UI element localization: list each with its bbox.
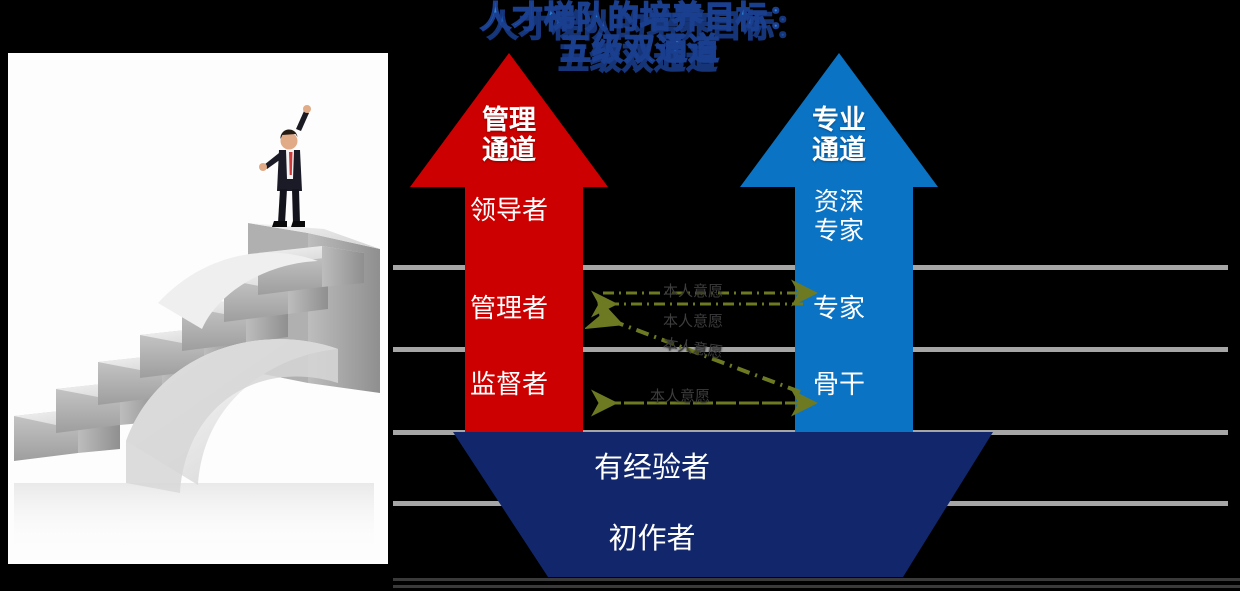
management-channel-label-line2: 通道 <box>439 135 579 165</box>
management-channel-label-line1: 管理 <box>439 105 579 135</box>
professional-channel-label-line2: 通道 <box>769 135 909 165</box>
management-tier-2: 管理者 <box>439 294 579 324</box>
professional-tier-1-line2: 专家 <box>769 217 909 246</box>
staircase-illustration <box>8 53 388 564</box>
footer-rule-2 <box>393 585 1240 588</box>
management-channel-label: 管理 通道 <box>439 105 579 165</box>
professional-channel-label-line1: 专业 <box>769 105 909 135</box>
page-title-line1: 人才梯队的培养目标： <box>430 2 850 34</box>
staircase-photo <box>8 53 388 564</box>
professional-tier-1-line1: 资深 <box>769 188 909 217</box>
professional-channel-label: 专业 通道 <box>769 105 909 165</box>
connector-label-1: 本人意愿 <box>663 280 723 301</box>
professional-tier-1: 资深 专家 <box>769 188 909 246</box>
slide-canvas: 管理 通道 专业 通道 领导者 管理者 监督者 资深 专家 专家 骨干 有经验者… <box>0 0 1240 591</box>
connector-label-2: 本人意愿 <box>663 310 723 331</box>
base-level-1-label: 有经验者 <box>472 444 832 486</box>
page-title-line1-ghost: 人才梯队的培养目标： <box>444 11 850 43</box>
base-level-2-label: 初作者 <box>472 515 832 557</box>
footer-rule-1 <box>393 578 1240 581</box>
connector-label-4: 本人意愿 <box>650 385 710 406</box>
management-tier-3: 监督者 <box>439 370 579 400</box>
management-tier-1: 领导者 <box>439 196 579 226</box>
